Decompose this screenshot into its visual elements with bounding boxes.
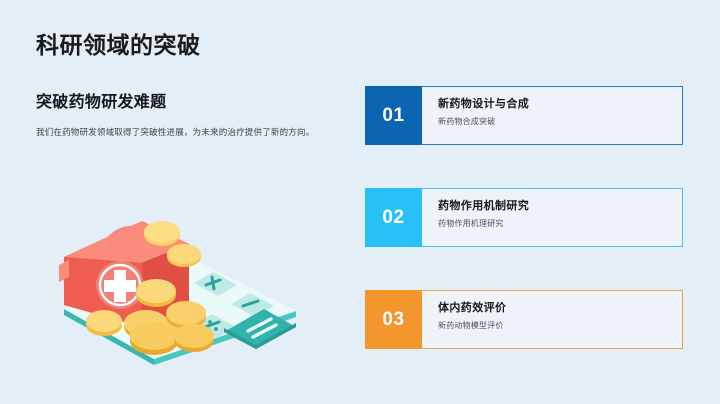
card-subtext: 药物作用机理研究 (438, 219, 682, 229)
feature-card-03[interactable]: 03 体内药效评价 新药动物模型评价 (366, 290, 683, 349)
slide-canvas: 科研领域的突破 突破药物研发难题 我们在药物研发领域取得了突破性进展，为未来的治… (0, 0, 720, 404)
feature-card-02[interactable]: 02 药物作用机制研究 药物作用机理研究 (366, 188, 683, 247)
medical-kit-coins-calculator-illustration (34, 205, 324, 375)
card-number-badge: 03 (365, 290, 422, 349)
card-text-block: 药物作用机制研究 药物作用机理研究 (422, 189, 682, 246)
card-text-block: 新药物设计与合成 新药物合成突破 (422, 87, 682, 144)
card-heading: 体内药效评价 (438, 302, 682, 315)
card-text-block: 体内药效评价 新药动物模型评价 (422, 291, 682, 348)
card-heading: 新药物设计与合成 (438, 98, 682, 111)
left-content-column: 突破药物研发难题 我们在药物研发领域取得了突破性进展，为未来的治疗提供了新的方向… (36, 88, 336, 139)
card-heading: 药物作用机制研究 (438, 200, 682, 213)
feature-card-01[interactable]: 01 新药物设计与合成 新药物合成突破 (366, 86, 683, 145)
card-number-badge: 02 (365, 188, 422, 247)
section-subtitle: 突破药物研发难题 (36, 88, 336, 112)
feature-card-list: 01 新药物设计与合成 新药物合成突破 02 药物作用机制研究 药物作用机理研究… (366, 86, 683, 349)
section-body-text: 我们在药物研发领域取得了突破性进展，为未来的治疗提供了新的方向。 (36, 126, 336, 139)
card-number-badge: 01 (365, 86, 422, 145)
card-subtext: 新药动物模型评价 (438, 321, 682, 331)
page-title: 科研领域的突破 (36, 26, 201, 60)
card-subtext: 新药物合成突破 (438, 117, 682, 127)
